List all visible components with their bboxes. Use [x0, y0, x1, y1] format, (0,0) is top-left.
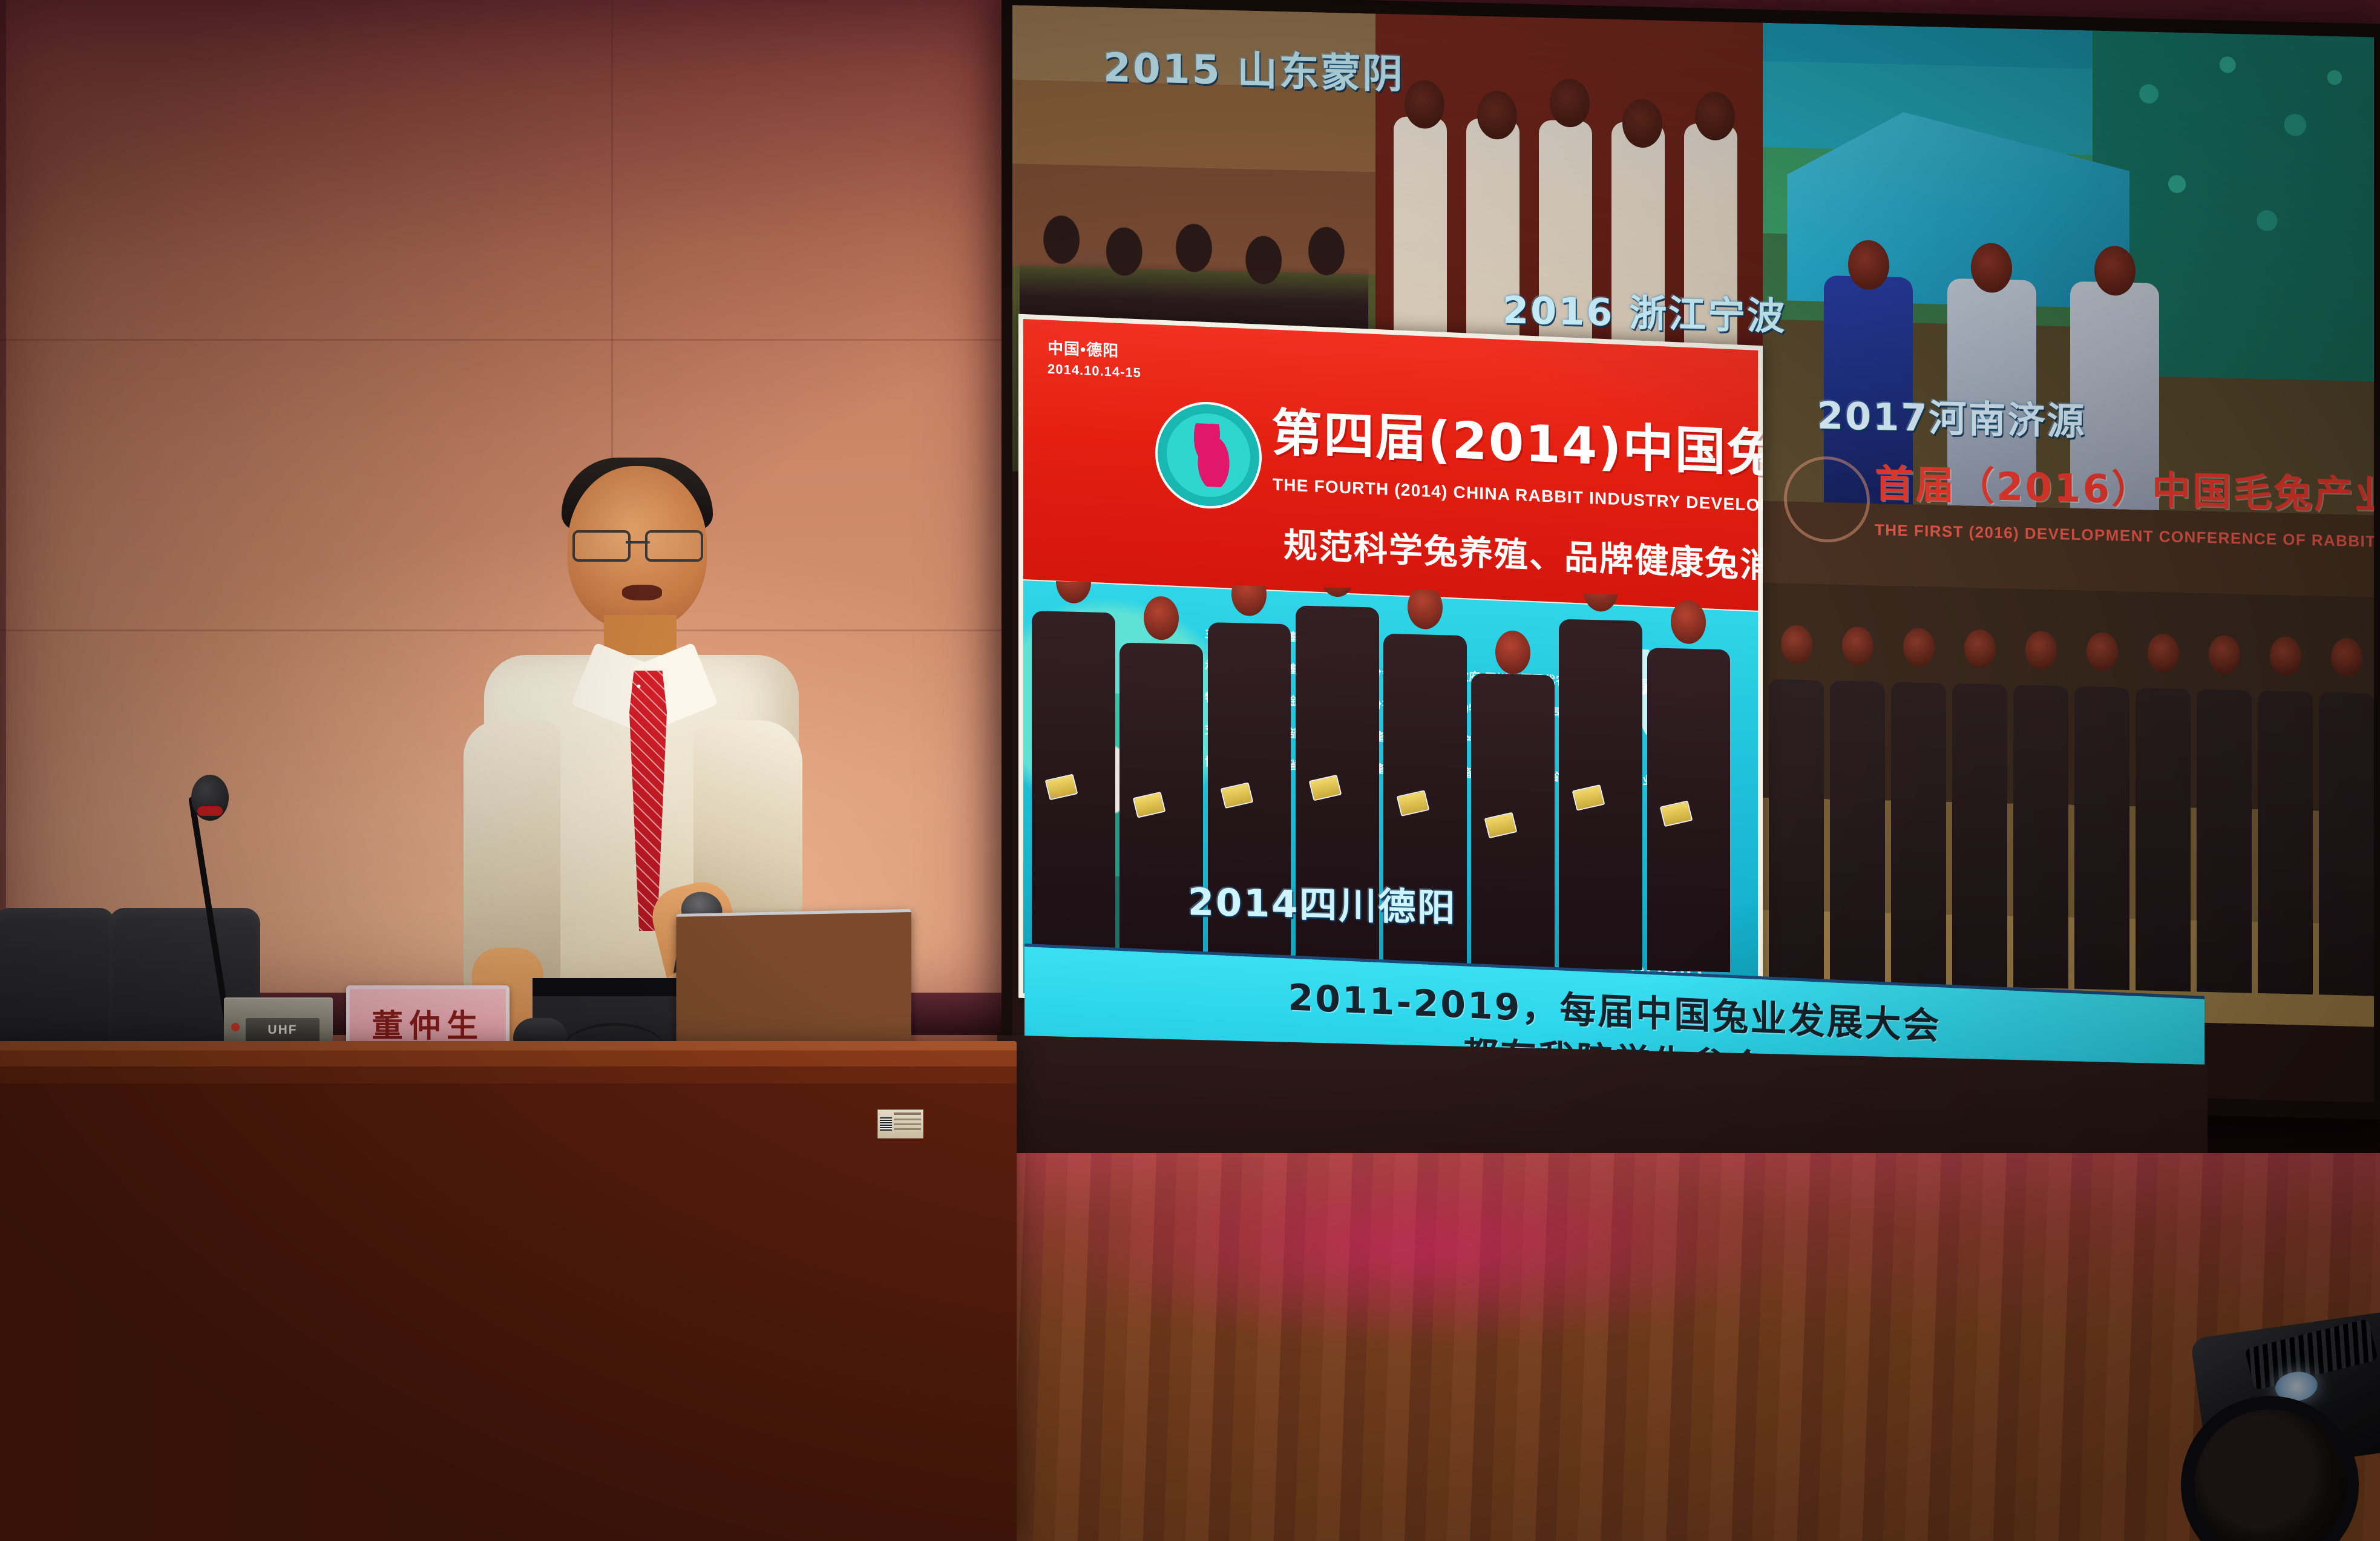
photo-figure	[2013, 685, 2068, 988]
podium-desk-top	[0, 1041, 1017, 1083]
photo-figure-head	[1695, 91, 1735, 141]
photo-figure	[1647, 648, 1731, 972]
stage-par-light	[2151, 1285, 2380, 1541]
maorou-title-english: THE FIRST (2016) DEVELOPMENT CONFERENCE …	[1875, 521, 2374, 553]
poster-title-chinese: 第四届(2014)中国兔业发展大会	[1271, 407, 1755, 479]
uhf-label: UHF	[246, 1018, 320, 1042]
poster-city-line: 中国•德阳	[1047, 336, 1119, 361]
photo-figure	[2319, 692, 2374, 996]
maorou-title-chinese: 首届（2016）中国毛兔产业	[1875, 453, 2374, 521]
lecture-hall-photo: 中国•德阳 2014.10.14-15 第四届(2014)中国兔业发展大会 TH…	[0, 0, 2380, 1541]
slide-label-zhejiang-ningbo: 2016 浙江宁波	[1503, 280, 1786, 341]
photo-figure	[1952, 683, 2007, 987]
photo-figure	[1769, 679, 1824, 983]
photo-figure	[2074, 686, 2129, 990]
conference-seal-icon	[1784, 455, 1870, 543]
stage-light-wash	[908, 1150, 1936, 1404]
power-indicator-led	[231, 1023, 240, 1031]
stage-chair	[0, 908, 115, 1059]
screen-crease	[0, 339, 1005, 341]
photo-figure-head	[1477, 91, 1517, 140]
photo-figure	[2258, 691, 2313, 994]
photo-conference-crowd	[1763, 501, 2374, 1027]
photo-figure	[1891, 682, 1946, 986]
photo-figure-head	[1550, 78, 1590, 128]
presentation-slide: 中国•德阳 2014.10.14-15 第四届(2014)中国兔业发展大会 TH…	[1012, 5, 2374, 1102]
photo-figure	[1830, 680, 1885, 984]
photo-figure	[2136, 688, 2191, 991]
poster-slogan: 规范科学兔养殖、品牌健康兔消费	[1283, 517, 1763, 587]
photo-figure	[2197, 689, 2252, 993]
maorou-conference-banner: 首届（2016）中国毛兔产业 THE FIRST (2016) DEVELOPM…	[1778, 447, 2374, 570]
speaker-name-text: 董仲生	[372, 1000, 484, 1046]
eyeglasses-icon	[572, 530, 703, 557]
photo-figure-head	[1622, 99, 1662, 148]
photo-figure	[1559, 619, 1642, 970]
slide-label-henan-jiyuan: 2017河南济源	[1817, 385, 2087, 445]
microphone-red-ring	[197, 806, 223, 816]
led-video-wall: 中国•德阳 2014.10.14-15 第四届(2014)中国兔业发展大会 TH…	[1002, 0, 2380, 1120]
slide-label-sichuan-deyang: 2014四川德阳	[1188, 871, 1457, 931]
photo-figure	[1471, 674, 1555, 968]
podium-desk-front	[0, 1051, 1017, 1541]
photo-crowd-row	[1763, 603, 2374, 996]
rabbit-emblem-icon	[1155, 399, 1262, 511]
poster-title-english: THE FOURTH (2014) CHINA RABBIT INDUSTRY …	[1273, 475, 1763, 516]
poster-date-line: 2014.10.14-15	[1047, 361, 1141, 381]
photo-figure	[1032, 611, 1115, 958]
slide-label-shandong-mengyin: 2015 山东蒙阴	[1103, 35, 1405, 100]
poster-red-header: 中国•德阳 2014.10.14-15 第四届(2014)中国兔业发展大会 TH…	[1023, 319, 1758, 611]
qr-code-icon	[880, 1117, 892, 1131]
photo-figure-head	[1405, 79, 1444, 129]
presenter-laptop	[676, 909, 911, 1058]
equipment-asset-label	[877, 1109, 923, 1138]
presenter-mouth	[622, 585, 662, 600]
